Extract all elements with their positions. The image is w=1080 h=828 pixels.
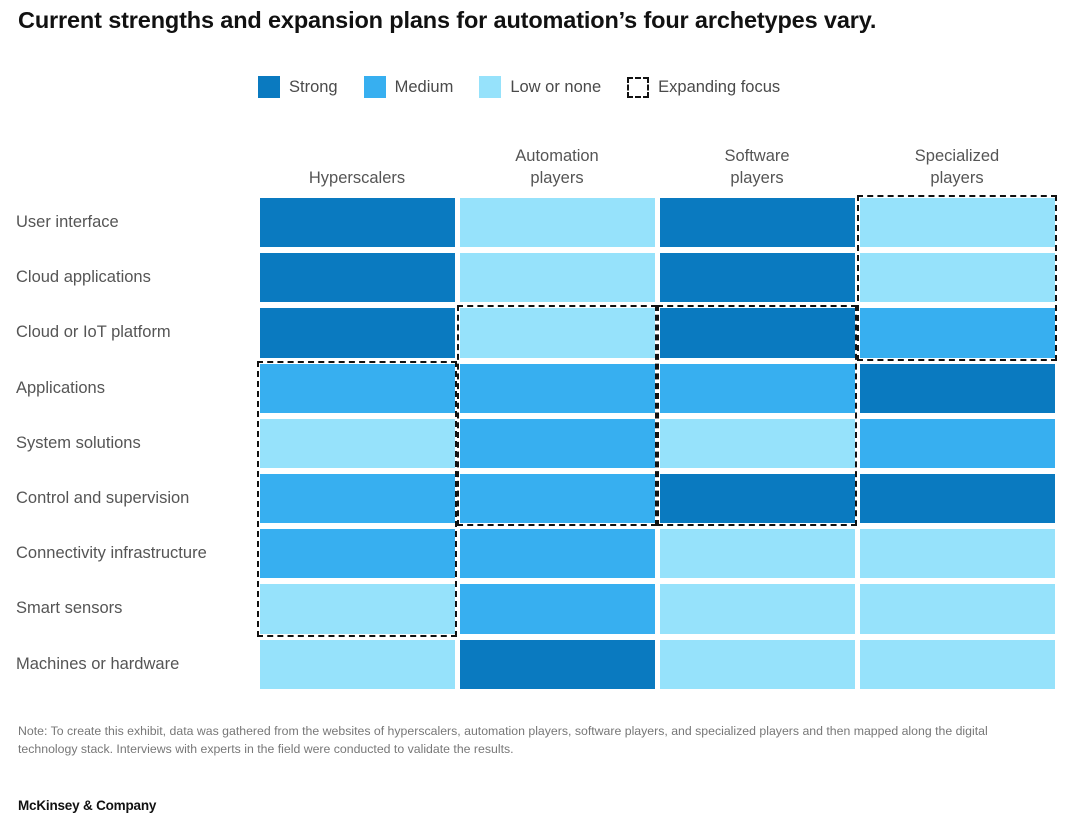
heatmap-cell-fill bbox=[260, 419, 455, 468]
heatmap-cell[interactable] bbox=[657, 637, 857, 692]
heatmap-cell-fill bbox=[860, 640, 1055, 689]
heatmap-cell[interactable] bbox=[657, 416, 857, 471]
heatmap-cell[interactable] bbox=[657, 361, 857, 416]
heatmap-cell[interactable] bbox=[857, 305, 1057, 360]
row-label-cloud-applications: Cloud applications bbox=[16, 250, 256, 305]
heatmap-cell-fill bbox=[460, 529, 655, 578]
heatmap-cell[interactable] bbox=[857, 471, 1057, 526]
heatmap-cell[interactable] bbox=[857, 637, 1057, 692]
column-header-automation-players: Automationplayers bbox=[457, 140, 657, 190]
heatmap-cell-fill bbox=[260, 474, 455, 523]
heatmap-cell[interactable] bbox=[657, 305, 857, 360]
row-label-cloud-or-iot-platform: Cloud or IoT platform bbox=[16, 305, 256, 360]
row-label-control-and-supervision: Control and supervision bbox=[16, 471, 256, 526]
heatmap-cell-fill bbox=[460, 198, 655, 247]
footnote: Note: To create this exhibit, data was g… bbox=[18, 723, 1028, 759]
column-headers: HyperscalersAutomationplayersSoftwarepla… bbox=[257, 140, 1057, 190]
heatmap-row bbox=[257, 250, 1057, 305]
heatmap-cell-fill bbox=[260, 253, 455, 302]
heatmap-cell-fill bbox=[860, 419, 1055, 468]
heatmap-cell-fill bbox=[460, 474, 655, 523]
column-header-line2: players bbox=[861, 168, 1053, 190]
row-label-machines-or-hardware: Machines or hardware bbox=[16, 637, 256, 692]
heatmap-cell-fill bbox=[660, 584, 855, 633]
heatmap-cell-fill bbox=[460, 584, 655, 633]
heatmap-cell-fill bbox=[660, 253, 855, 302]
heatmap-cell-fill bbox=[260, 198, 455, 247]
heatmap-cell-fill bbox=[460, 640, 655, 689]
heatmap-row bbox=[257, 305, 1057, 360]
heatmap-cell[interactable] bbox=[257, 250, 457, 305]
heatmap-chart: HyperscalersAutomationplayersSoftwarepla… bbox=[0, 0, 1080, 828]
heatmap-cell-fill bbox=[260, 584, 455, 633]
heatmap-cell-fill bbox=[660, 364, 855, 413]
heatmap-cell-fill bbox=[660, 474, 855, 523]
heatmap-cell-fill bbox=[660, 640, 855, 689]
heatmap-cell[interactable] bbox=[257, 361, 457, 416]
heatmap-cell-fill bbox=[860, 364, 1055, 413]
column-header-line1: Specialized bbox=[861, 146, 1053, 168]
heatmap-cell[interactable] bbox=[657, 250, 857, 305]
heatmap-cell-fill bbox=[860, 308, 1055, 357]
column-header-line2: players bbox=[661, 168, 853, 190]
heatmap-cell[interactable] bbox=[257, 526, 457, 581]
heatmap-cell[interactable] bbox=[457, 361, 657, 416]
heatmap-cell-fill bbox=[260, 529, 455, 578]
heatmap-cell[interactable] bbox=[257, 195, 457, 250]
heatmap-cell[interactable] bbox=[457, 581, 657, 636]
heatmap-cell-fill bbox=[460, 253, 655, 302]
heatmap-cell[interactable] bbox=[457, 471, 657, 526]
row-label-applications: Applications bbox=[16, 361, 256, 416]
heatmap-cell[interactable] bbox=[657, 471, 857, 526]
heatmap-cell-fill bbox=[260, 308, 455, 357]
row-label-user-interface: User interface bbox=[16, 195, 256, 250]
heatmap-cell[interactable] bbox=[857, 195, 1057, 250]
heatmap-cell[interactable] bbox=[257, 305, 457, 360]
heatmap-cell[interactable] bbox=[657, 195, 857, 250]
brand-mckinsey: McKinsey & Company bbox=[18, 798, 156, 813]
heatmap-row bbox=[257, 416, 1057, 471]
column-header-line1: Automation bbox=[461, 146, 653, 168]
heatmap-cell[interactable] bbox=[857, 250, 1057, 305]
heatmap-cell-fill bbox=[660, 419, 855, 468]
heatmap-cell-fill bbox=[660, 529, 855, 578]
heatmap-cell[interactable] bbox=[857, 581, 1057, 636]
heatmap-cell[interactable] bbox=[457, 637, 657, 692]
heatmap-cell[interactable] bbox=[257, 471, 457, 526]
heatmap-cell[interactable] bbox=[857, 526, 1057, 581]
column-header-line2: players bbox=[461, 168, 653, 190]
heatmap-cell-fill bbox=[460, 419, 655, 468]
heatmap-cell[interactable] bbox=[457, 416, 657, 471]
heatmap-cell[interactable] bbox=[657, 581, 857, 636]
heatmap-cell-fill bbox=[460, 308, 655, 357]
heatmap-cell[interactable] bbox=[457, 526, 657, 581]
heatmap-row bbox=[257, 361, 1057, 416]
heatmap-cell-fill bbox=[860, 253, 1055, 302]
column-header-hyperscalers: Hyperscalers bbox=[257, 140, 457, 190]
column-header-line2: Hyperscalers bbox=[261, 168, 453, 190]
heatmap-cell-fill bbox=[860, 198, 1055, 247]
column-header-software-players: Softwareplayers bbox=[657, 140, 857, 190]
heatmap-cell-fill bbox=[260, 640, 455, 689]
column-header-specialized-players: Specializedplayers bbox=[857, 140, 1057, 190]
heatmap-cell-fill bbox=[460, 364, 655, 413]
heatmap-cell-fill bbox=[860, 529, 1055, 578]
heatmap-cell[interactable] bbox=[457, 195, 657, 250]
heatmap-cell[interactable] bbox=[257, 581, 457, 636]
heatmap-row bbox=[257, 526, 1057, 581]
heatmap-cell[interactable] bbox=[857, 361, 1057, 416]
heatmap-cell-fill bbox=[660, 198, 855, 247]
heatmap-cell[interactable] bbox=[857, 416, 1057, 471]
heatmap-row bbox=[257, 637, 1057, 692]
row-labels: User interfaceCloud applicationsCloud or… bbox=[16, 195, 256, 692]
heatmap-cell[interactable] bbox=[657, 526, 857, 581]
heatmap-cell-fill bbox=[860, 584, 1055, 633]
column-header-line1: Software bbox=[661, 146, 853, 168]
row-label-system-solutions: System solutions bbox=[16, 416, 256, 471]
heatmap-cell[interactable] bbox=[257, 416, 457, 471]
heatmap-row bbox=[257, 581, 1057, 636]
heatmap-cell-fill bbox=[660, 308, 855, 357]
heatmap-cell[interactable] bbox=[457, 305, 657, 360]
heatmap-cell-fill bbox=[260, 364, 455, 413]
heatmap-row bbox=[257, 195, 1057, 250]
heatmap-cell[interactable] bbox=[457, 250, 657, 305]
heatmap-cell-fill bbox=[860, 474, 1055, 523]
heatmap-row bbox=[257, 471, 1057, 526]
row-label-connectivity-infrastructure: Connectivity infrastructure bbox=[16, 526, 256, 581]
row-label-smart-sensors: Smart sensors bbox=[16, 581, 256, 636]
heatmap-cell[interactable] bbox=[257, 637, 457, 692]
heatmap-grid bbox=[257, 195, 1057, 692]
